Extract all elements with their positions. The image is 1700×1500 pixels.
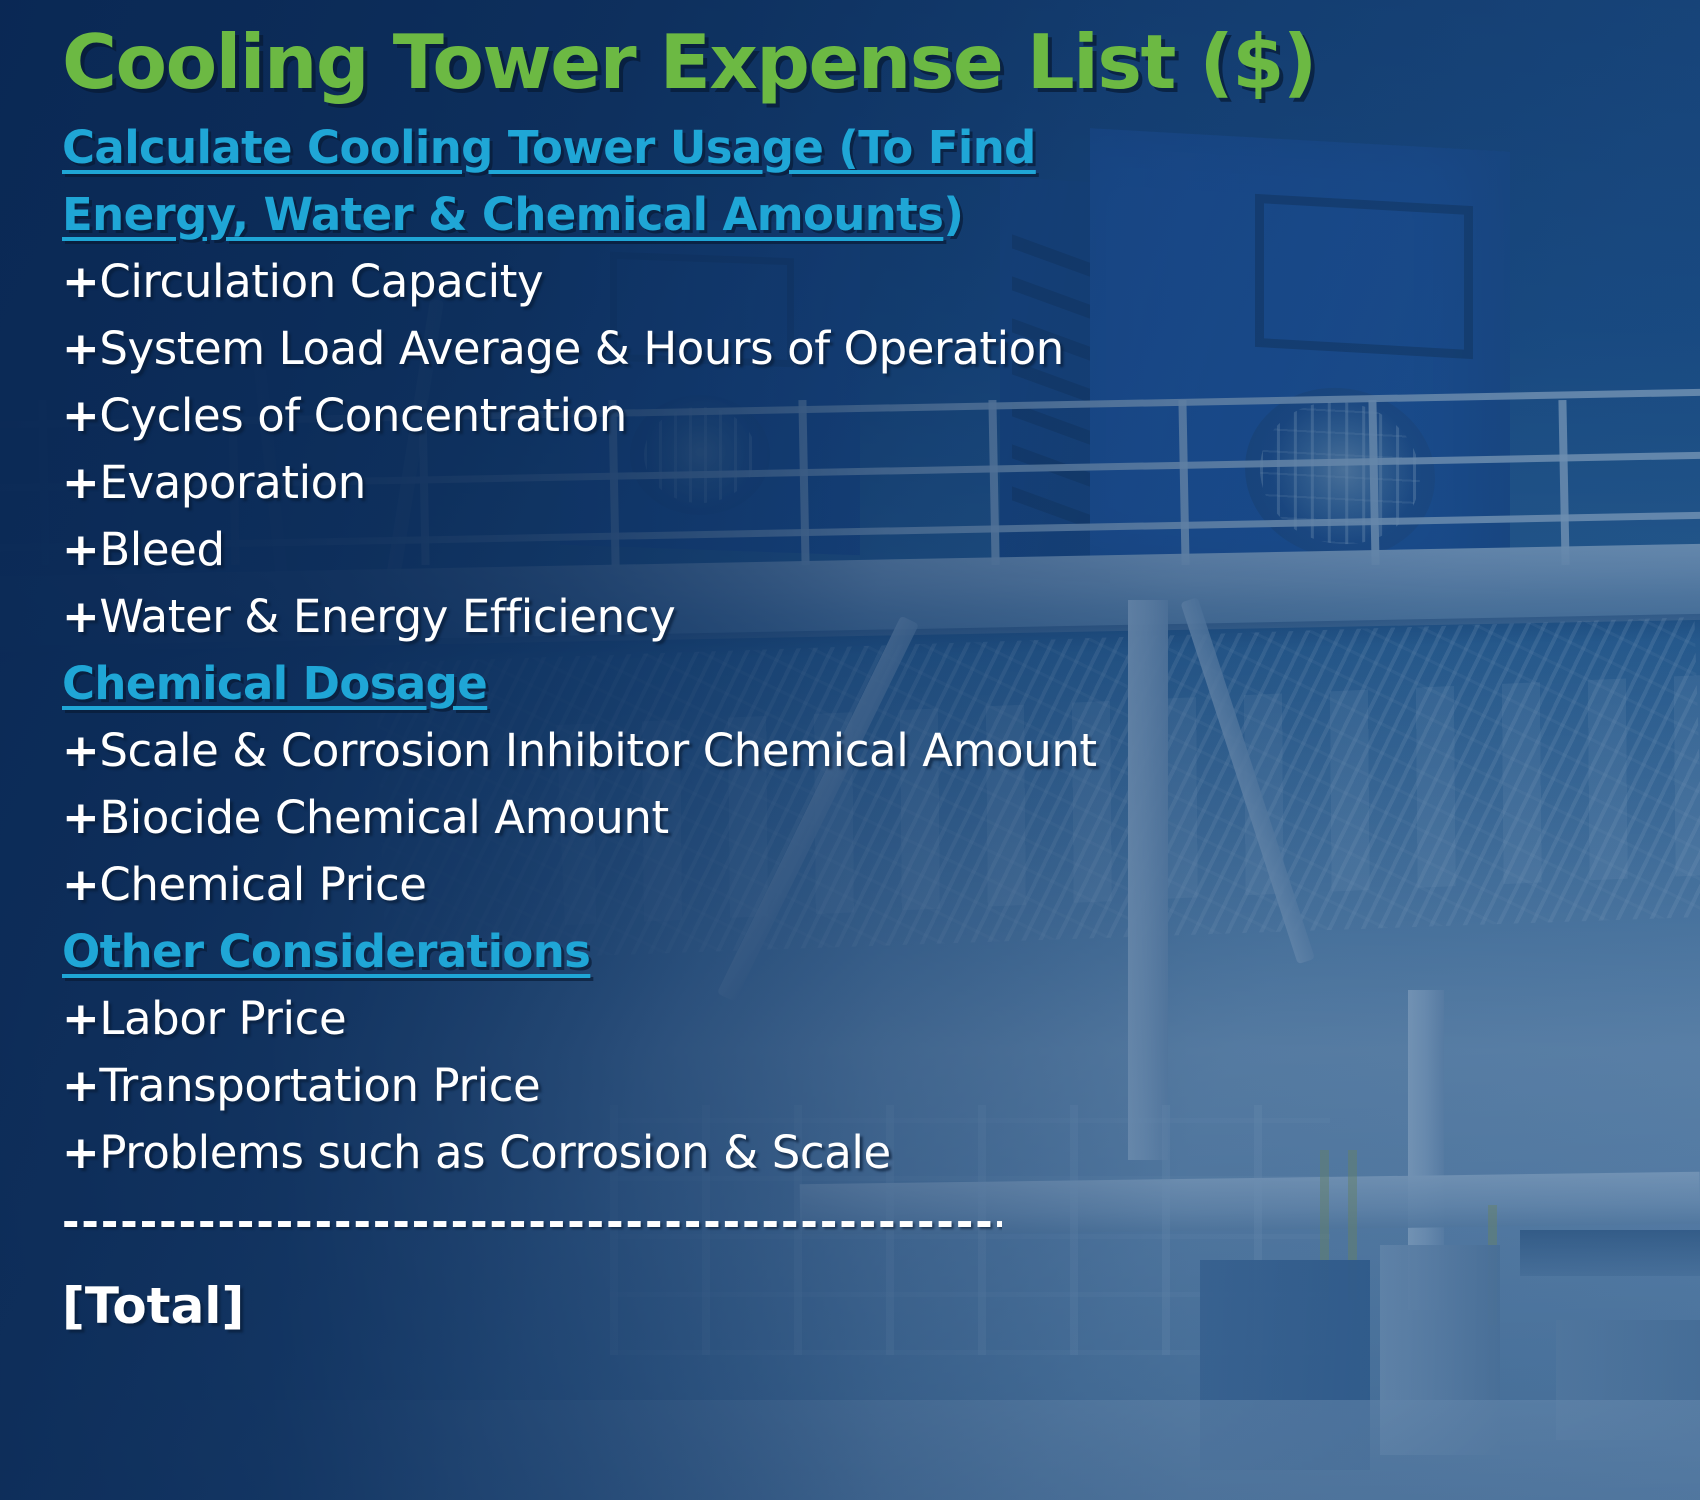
list-item-label: Problems such as Corrosion & Scale	[99, 1126, 890, 1179]
list-item-label: Transportation Price	[99, 1059, 540, 1112]
list-item-label: Chemical Price	[99, 858, 426, 911]
list-item: +Cycles of Concentration	[62, 382, 1700, 449]
plus-icon: +	[62, 389, 99, 442]
section-heading-underlined-text: Other Considerations	[62, 925, 590, 978]
list-item-label: System Load Average & Hours of Operation	[99, 322, 1064, 375]
list-item: +Circulation Capacity	[62, 248, 1700, 315]
list-item-label: Bleed	[99, 523, 224, 576]
list-item-label: Labor Price	[99, 992, 346, 1045]
list-item: +Biocide Chemical Amount	[62, 784, 1700, 851]
list-item: +Problems such as Corrosion & Scale	[62, 1119, 1700, 1186]
list-item: +Water & Energy Efficiency	[62, 583, 1700, 650]
plus-icon: +	[62, 791, 99, 844]
section-heading-underlined-text: Chemical Dosage	[62, 657, 487, 710]
list-item: +Labor Price	[62, 985, 1700, 1052]
section-heading-trailing-paren: )	[943, 188, 963, 241]
list-item-label: Cycles of Concentration	[99, 389, 627, 442]
slide-content: Cooling Tower Expense List ($) Calculate…	[0, 0, 1700, 1500]
section-heading-calculate-usage: Calculate Cooling Tower Usage (To Find E…	[62, 114, 1222, 248]
list-item-label: Circulation Capacity	[99, 255, 543, 308]
plus-icon: +	[62, 456, 99, 509]
section-heading-underlined-text: Calculate Cooling Tower Usage (To Find E…	[62, 121, 1036, 241]
list-item-label: Scale & Corrosion Inhibitor Chemical Amo…	[99, 724, 1096, 777]
list-item: +Scale & Corrosion Inhibitor Chemical Am…	[62, 717, 1700, 784]
plus-icon: +	[62, 590, 99, 643]
list-item: +Chemical Price	[62, 851, 1700, 918]
list-item-label: Biocide Chemical Amount	[99, 791, 668, 844]
dashed-divider: ----------------------------------------…	[62, 1192, 1002, 1252]
list-item: +Transportation Price	[62, 1052, 1700, 1119]
plus-icon: +	[62, 1126, 99, 1179]
list-item-label: Evaporation	[99, 456, 366, 509]
plus-icon: +	[62, 1059, 99, 1112]
plus-icon: +	[62, 858, 99, 911]
plus-icon: +	[62, 523, 99, 576]
list-item: +Evaporation	[62, 449, 1700, 516]
section-heading-other-considerations: Other Considerations	[62, 918, 1700, 985]
list-item-label: Water & Energy Efficiency	[99, 590, 675, 643]
list-item: +Bleed	[62, 516, 1700, 583]
list-item: +System Load Average & Hours of Operatio…	[62, 315, 1700, 382]
total-label: [Total]	[62, 1270, 1700, 1342]
slide-canvas: Cooling Tower Expense List ($) Calculate…	[0, 0, 1700, 1500]
plus-icon: +	[62, 724, 99, 777]
plus-icon: +	[62, 322, 99, 375]
page-title: Cooling Tower Expense List ($)	[62, 16, 1700, 108]
section-heading-chemical-dosage: Chemical Dosage	[62, 650, 1700, 717]
plus-icon: +	[62, 255, 99, 308]
plus-icon: +	[62, 992, 99, 1045]
